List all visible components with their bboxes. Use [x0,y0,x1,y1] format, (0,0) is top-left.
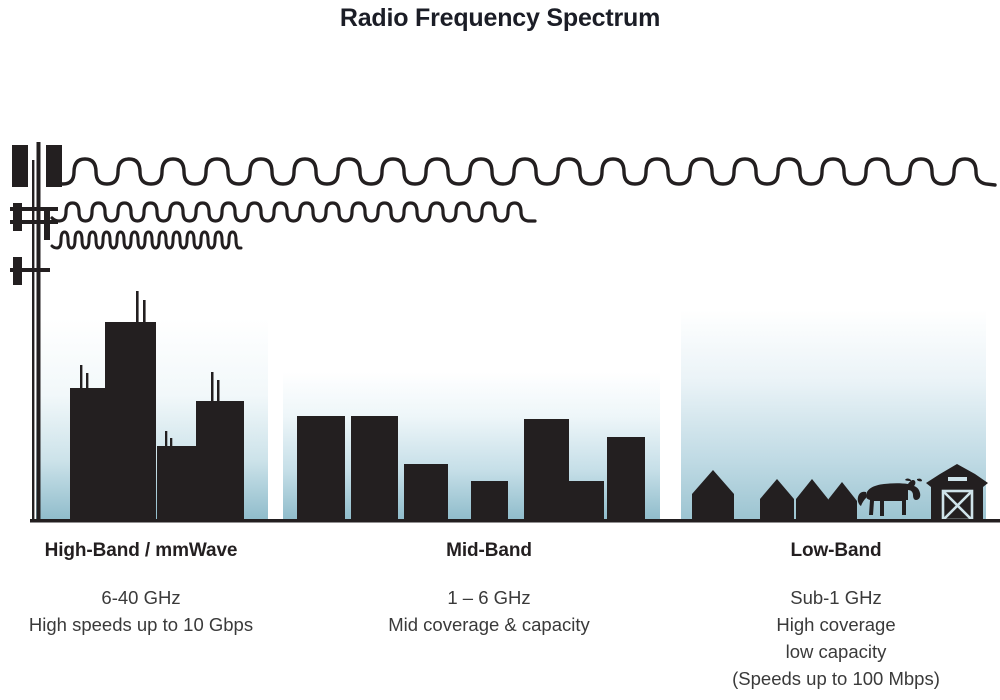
band-speed-mid-band: Mid coverage & capacity [348,611,630,638]
spire [211,372,214,402]
low-band-wave [52,159,995,185]
band-title-high-band: High-Band / mmWave [8,540,274,562]
band-coverage-low-band: High coverage [690,611,982,638]
building [607,437,645,520]
band-speed-low-band: (Speeds up to 100 Mbps) [690,665,982,692]
ground-baseline [30,519,1000,523]
spire [217,380,220,403]
building [196,401,244,520]
band-capacity-low-band: low capacity [690,638,982,665]
antenna-panel-high-left [12,145,28,187]
high-band-wave [52,232,241,248]
antenna-panel-high-right [46,145,62,187]
building [568,481,604,520]
band-column-mid-band: Mid-Band 1 – 6 GHz Mid coverage & capaci… [348,540,630,638]
band-title-mid-band: Mid-Band [348,540,630,562]
band-frequency-high-band: 6-40 GHz [8,584,274,611]
band-frequency-mid-band: 1 – 6 GHz [348,584,630,611]
antenna-panel-mid-right [44,208,50,240]
building [524,419,569,520]
band-column-high-band: High-Band / mmWave 6-40 GHz High speeds … [8,540,274,638]
building [297,416,345,520]
band-legend: High-Band / mmWave 6-40 GHz High speeds … [0,540,1000,700]
building [351,416,398,520]
spectrum-diagram [0,0,1000,540]
band-column-low-band: Low-Band Sub-1 GHz High coverage low cap… [690,540,982,692]
radio-waves [52,159,995,248]
spire [143,300,146,324]
antenna-panel-mid-left [13,203,22,231]
building [404,464,448,520]
tower-mast [37,142,41,520]
spire [136,291,139,323]
antenna-panel-low-left [13,257,22,285]
band-title-low-band: Low-Band [690,540,982,562]
building [105,322,156,520]
band-speed-high-band: High speeds up to 10 Gbps [8,611,274,638]
building [471,481,508,520]
building [157,446,202,520]
band-frequency-low-band: Sub-1 GHz [690,584,982,611]
spire [165,431,167,447]
barn-loft-vent [948,477,967,481]
mid-band-wave [52,203,535,221]
tower-mast-secondary [32,160,34,520]
spire [80,365,82,390]
